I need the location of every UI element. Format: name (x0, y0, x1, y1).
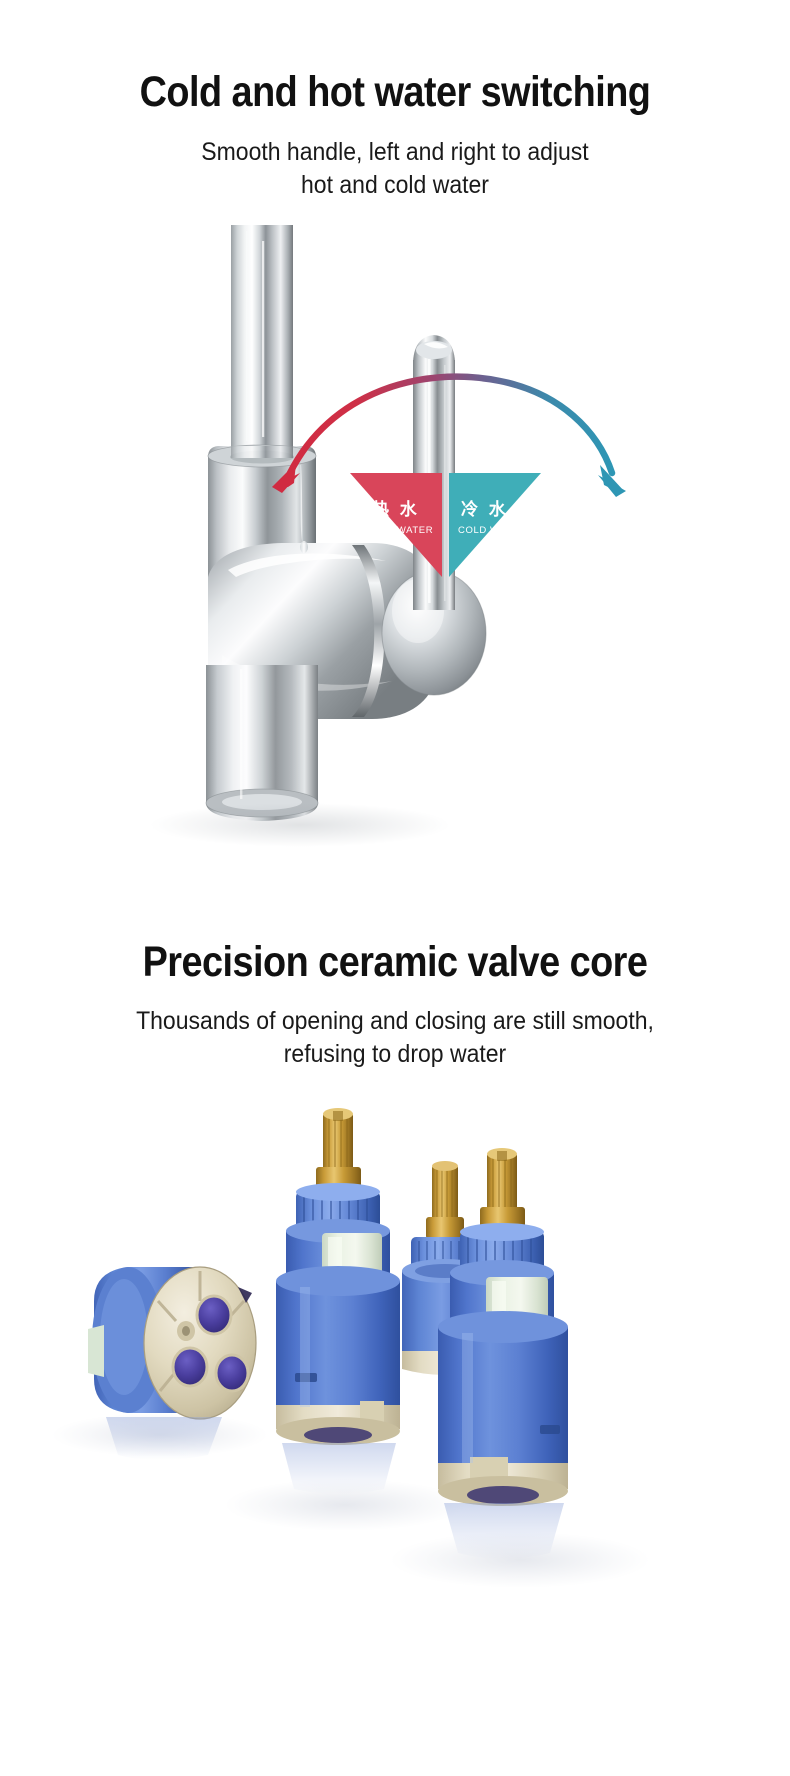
section-2-subline-block: Thousands of opening and closing are sti… (0, 1005, 790, 1070)
ceramic-valve-cartridges-figure (0, 1105, 790, 1765)
cold-water-english-label: COLD WATER (458, 525, 526, 536)
page-title-cold-hot: Cold and hot water switching (47, 68, 742, 116)
section-2-subtitle: Thousands of opening and closing are sti… (32, 1005, 759, 1070)
section-2-subtitle-line-2: refusing to drop water (32, 1038, 759, 1071)
cold-water-chinese-label: 冷 水 (461, 499, 509, 519)
faucet-base-tube (206, 665, 318, 821)
hot-water-chinese-label: 热 水 (372, 499, 420, 519)
faucet-contact-shadow (150, 803, 450, 847)
section-1-subtitle-line-1: Smooth handle, left and right to adjust (32, 136, 759, 169)
product-feature-page: Cold and hot water switching Smooth hand… (0, 0, 790, 1776)
section-1-headline-block: Cold and hot water switching (0, 68, 790, 116)
cold-water-fan-label: 冷 水 COLD WATER (449, 473, 541, 577)
faucet-spout (231, 225, 293, 457)
section-1-subtitle: Smooth handle, left and right to adjust … (32, 136, 759, 201)
cartridge-tall-center (276, 1108, 400, 1494)
section-2-headline-block: Precision ceramic valve core (0, 938, 790, 986)
section-1-subline-block: Smooth handle, left and right to adjust … (0, 136, 790, 201)
hot-water-english-label: HOT WATER (372, 525, 433, 536)
section-2-subtitle-line-1: Thousands of opening and closing are sti… (32, 1005, 759, 1038)
faucet-handle-figure: 热 水 HOT WATER 冷 水 COLD WATER (0, 225, 790, 885)
page-title-valve-core: Precision ceramic valve core (47, 938, 742, 986)
section-1-subtitle-line-2: hot and cold water (32, 169, 759, 202)
